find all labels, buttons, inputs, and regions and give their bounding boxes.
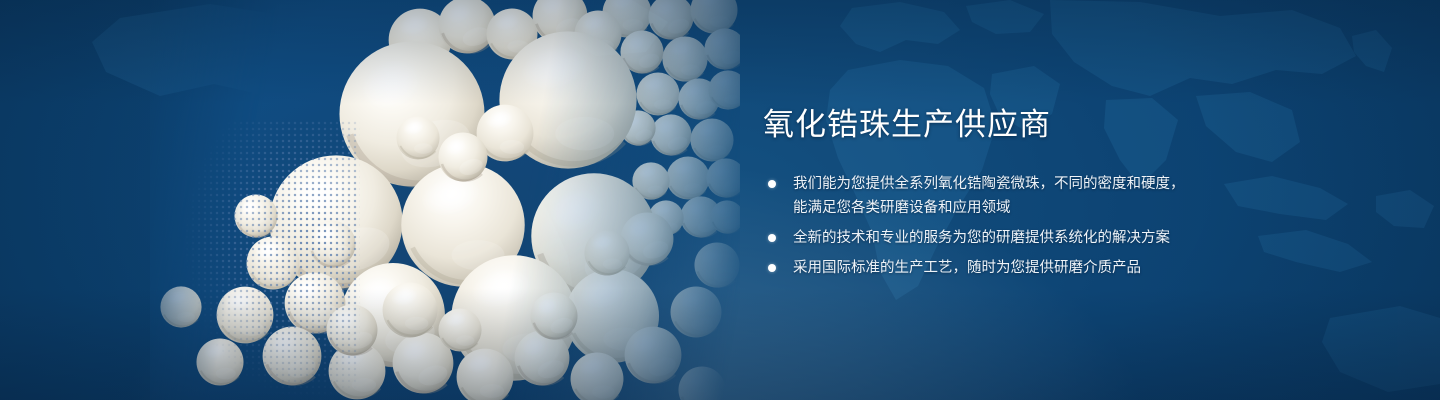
hero-banner: 氧化锆珠生产供应商 我们能为您提供全系列氧化锆陶瓷微珠，不同的密度和硬度， 能满… — [0, 0, 1440, 400]
bullet-item-3: 采用国际标准的生产工艺，随时为您提供研磨介质产品 — [763, 256, 1323, 280]
bullet-3-line-1: 采用国际标准的生产工艺，随时为您提供研磨介质产品 — [793, 256, 1323, 280]
bullet-dot-icon — [768, 264, 776, 272]
bullet-1-line-1: 我们能为您提供全系列氧化锆陶瓷微珠，不同的密度和硬度， — [793, 172, 1323, 196]
bullet-dot-icon — [768, 180, 776, 188]
bullet-dot-icon — [768, 234, 776, 242]
bullet-item-2: 全新的技术和专业的服务为您的研磨提供系统化的解决方案 — [763, 226, 1323, 250]
bullet-2-line-1: 全新的技术和专业的服务为您的研磨提供系统化的解决方案 — [793, 226, 1323, 250]
banner-headline: 氧化锆珠生产供应商 — [763, 104, 1323, 146]
banner-bullet-list: 我们能为您提供全系列氧化锆陶瓷微珠，不同的密度和硬度， 能满足您各类研磨设备和应… — [763, 172, 1323, 280]
banner-copy: 氧化锆珠生产供应商 我们能为您提供全系列氧化锆陶瓷微珠，不同的密度和硬度， 能满… — [763, 104, 1323, 280]
bullet-item-1: 我们能为您提供全系列氧化锆陶瓷微珠，不同的密度和硬度， 能满足您各类研磨设备和应… — [763, 172, 1323, 220]
bullet-1-line-2: 能满足您各类研磨设备和应用领域 — [793, 196, 1323, 220]
